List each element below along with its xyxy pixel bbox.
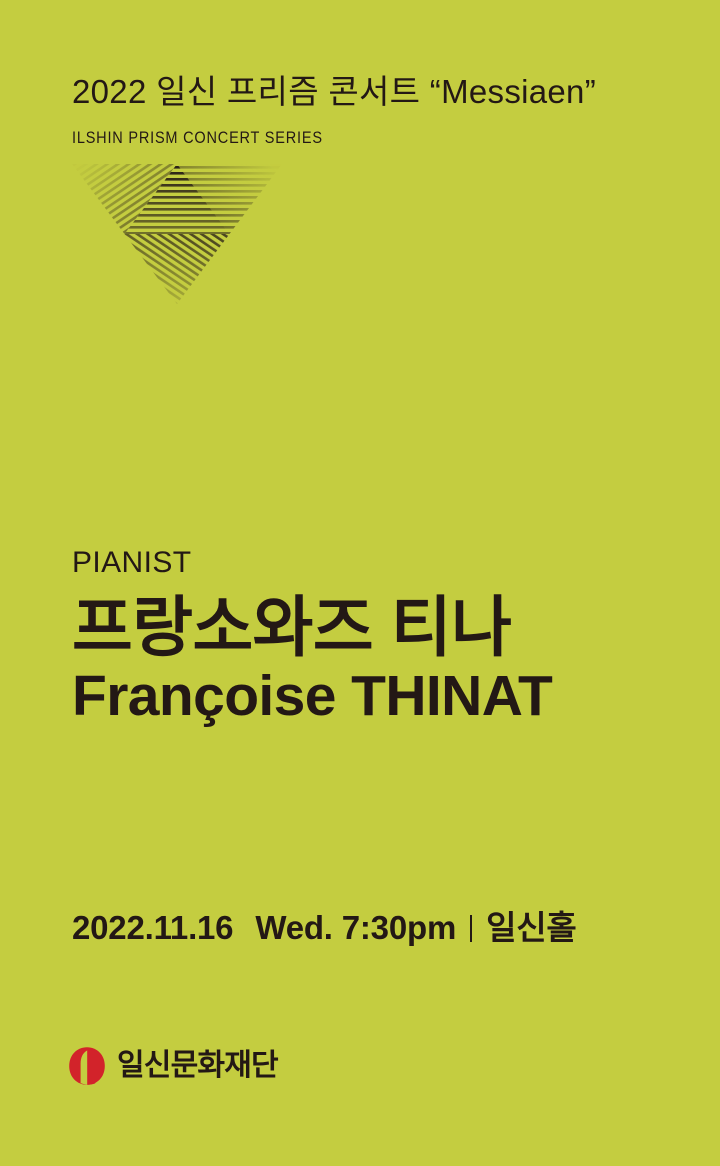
series-title: 2022 일신 프리즘 콘서트 “Messiaen” <box>72 74 652 111</box>
schedule-line: 2022.11.16 Wed. 7:30pm 일신홀 <box>72 908 577 948</box>
footer-logo: 일신문화재단 <box>68 1046 278 1086</box>
series-title-main: 2022 일신 프리즘 콘서트 <box>72 73 430 110</box>
ilshin-foundation-logo-icon <box>68 1046 106 1086</box>
prism-triangle-icon <box>68 160 283 310</box>
poster-header: 2022 일신 프리즘 콘서트 “Messiaen” ILSHIN PRISM … <box>72 74 652 148</box>
concert-poster: 2022 일신 프리즘 콘서트 “Messiaen” ILSHIN PRISM … <box>0 0 720 1166</box>
artist-name-english: Françoise THINAT <box>72 665 672 728</box>
performance-time: Wed. 7:30pm <box>255 908 456 948</box>
artist-role: PIANIST <box>72 548 672 578</box>
series-subtitle: ILSHIN PRISM CONCERT SERIES <box>72 129 582 148</box>
performance-venue: 일신홀 <box>486 908 576 948</box>
artist-block: PIANIST 프랑소와즈 티나 Françoise THINAT <box>72 548 672 728</box>
series-title-quoted: “Messiaen” <box>430 73 596 110</box>
schedule-separator <box>470 915 472 942</box>
organization-name: 일신문화재단 <box>117 1051 278 1081</box>
artist-name-korean: 프랑소와즈 티나 <box>72 592 672 663</box>
performance-date: 2022.11.16 <box>72 908 233 948</box>
